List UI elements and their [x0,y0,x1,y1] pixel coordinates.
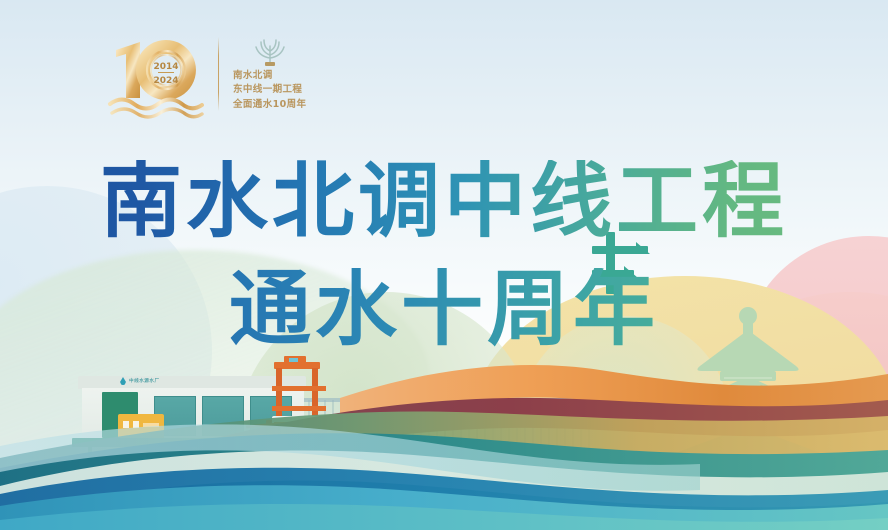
anniversary-10-logo-icon: 2014 2024 [100,24,204,124]
logo-text-line-1: 南水北调 [233,70,306,82]
logo-text-group: 南水北调 东中线一期工程 全面通水10周年 [233,37,306,110]
svg-text:2024: 2024 [153,76,178,86]
poster-canvas: 2014 2024 南水北调 [0,0,888,530]
svg-text:2014: 2014 [153,62,178,72]
page-title-line-1: 南水北调中线工程 [0,160,888,242]
logo-text-line-2: 东中线一期工程 [233,84,306,96]
logo-header: 2014 2024 南水北调 [100,24,306,124]
wave-illustration [0,330,888,530]
wheat-sprout-icon [250,37,290,67]
poster-title-block: 南水北调中线工程 通水十周年 [0,160,888,350]
logo-divider [218,37,219,111]
logo-text-line-3: 全面通水10周年 [233,99,306,111]
